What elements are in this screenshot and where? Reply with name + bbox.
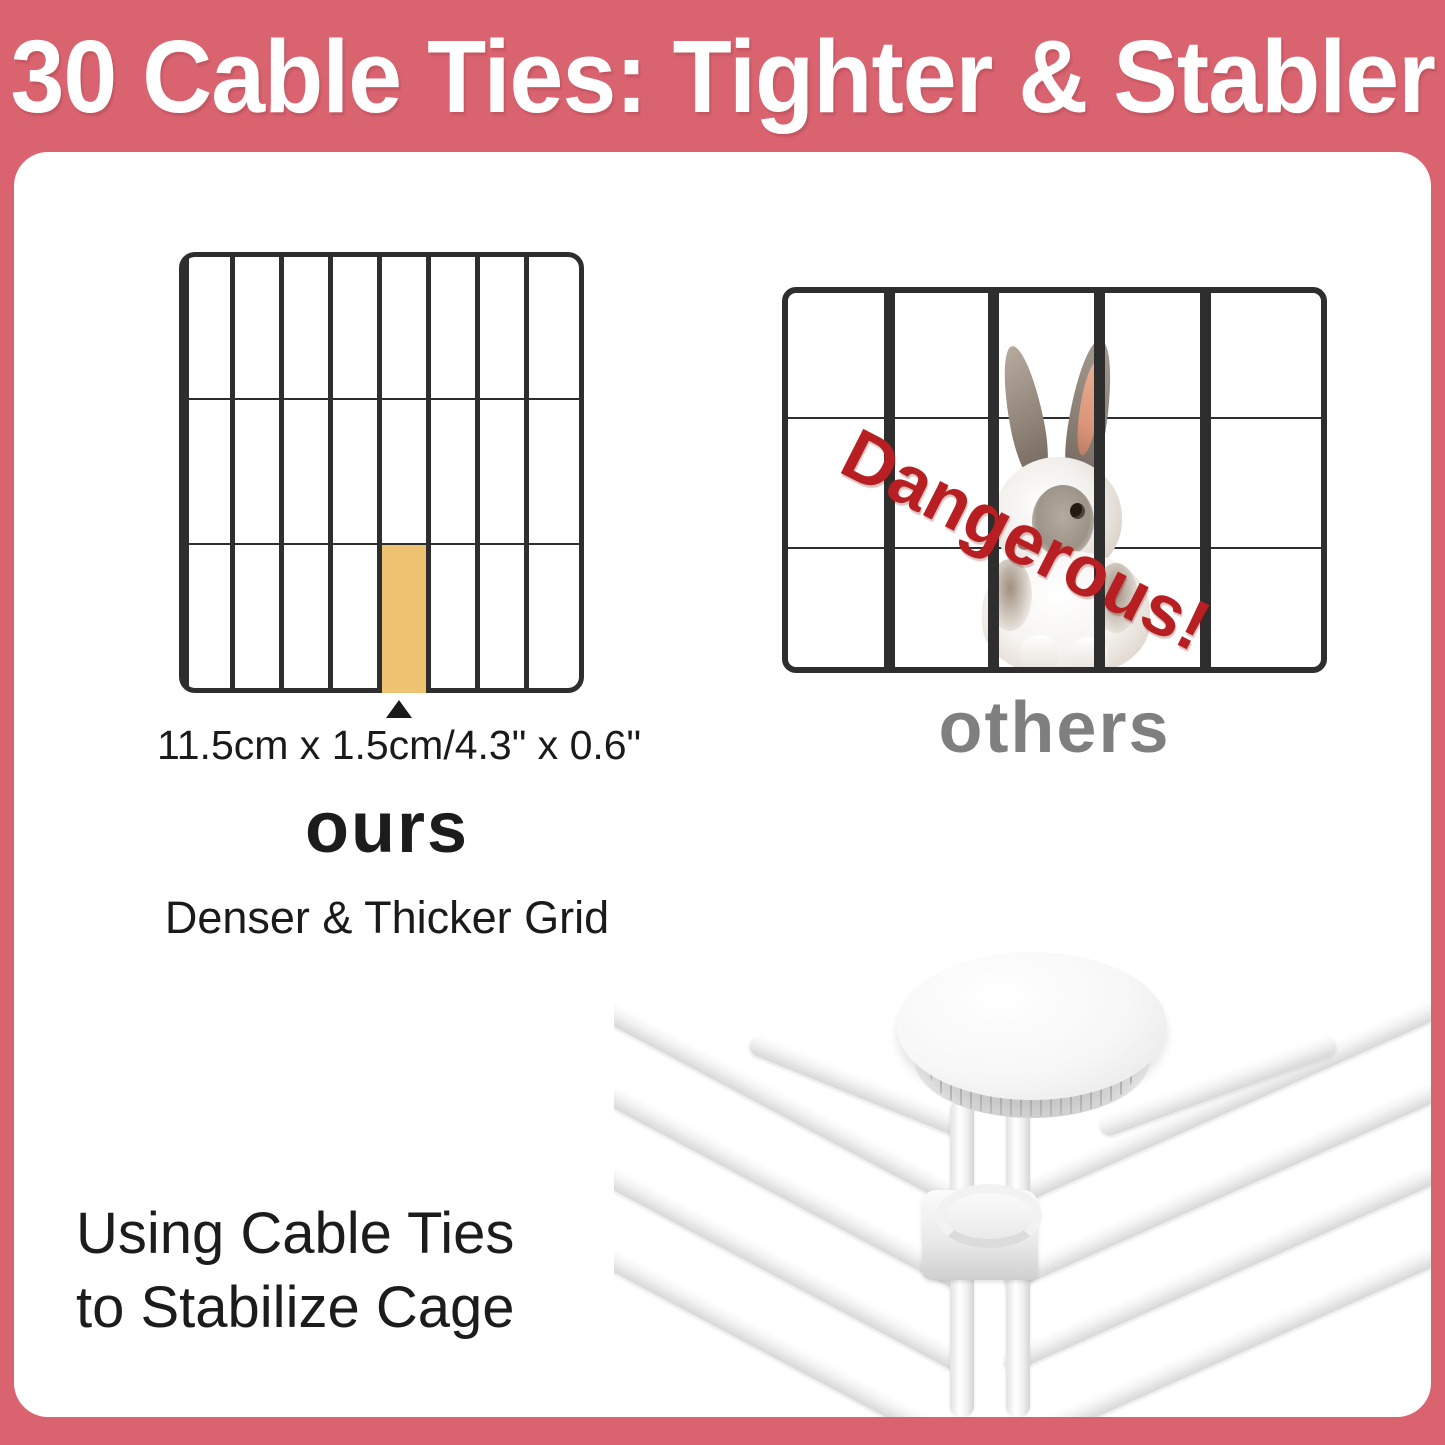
others-grid-diagram: Dangerous! (782, 287, 1327, 673)
product-infographic: 30 Cable Ties: Tighter & Stabler (0, 0, 1445, 1445)
cage-connector-photo (614, 922, 1431, 1417)
header-title: 30 Cable Ties: Tighter & Stabler (10, 25, 1434, 128)
bottom-caption: Using Cable Ties to Stabilize Cage (76, 1197, 676, 1345)
cable-tie-clip-ring (936, 1184, 1042, 1248)
others-label: others (782, 687, 1327, 769)
connector-cap (897, 952, 1167, 1100)
header-banner: 30 Cable Ties: Tighter & Stabler (0, 0, 1445, 152)
bottom-caption-line1: Using Cable Ties (76, 1197, 676, 1271)
grid-bar-vertical (328, 257, 333, 688)
ours-label: ours (157, 787, 617, 869)
dimension-pointer-icon (386, 700, 412, 718)
highlighted-cell (382, 545, 426, 693)
ours-block: 11.5cm x 1.5cm/4.3" x 0.6" ours Denser &… (179, 252, 584, 693)
comparison-section: 11.5cm x 1.5cm/4.3" x 0.6" ours Denser &… (14, 152, 1431, 942)
bottom-caption-line2: to Stabilize Cage (76, 1271, 676, 1345)
grid-bar-vertical (426, 257, 431, 688)
grid-bar-vertical (230, 257, 235, 688)
grid-bar-vertical (279, 257, 284, 688)
grid-bar-vertical (475, 257, 480, 688)
others-block: Dangerous! others (782, 287, 1327, 673)
ours-caption: Denser & Thicker Grid (157, 892, 617, 944)
content-panel: 11.5cm x 1.5cm/4.3" x 0.6" ours Denser &… (14, 152, 1431, 1417)
grid-bar-vertical (524, 257, 529, 688)
dimension-label: 11.5cm x 1.5cm/4.3" x 0.6" (157, 722, 617, 769)
ours-grid-diagram (179, 252, 584, 693)
grid-line-horizontal (184, 398, 579, 400)
